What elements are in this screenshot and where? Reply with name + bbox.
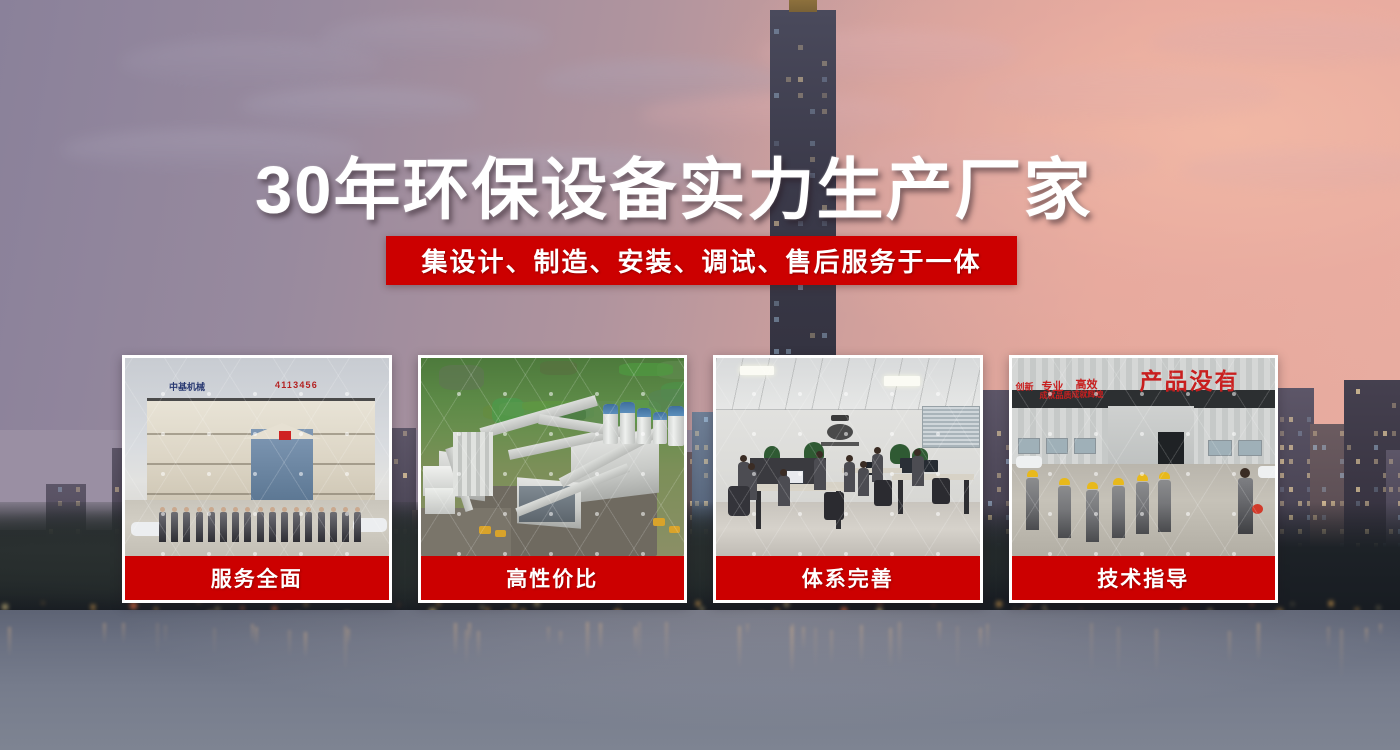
company-headquarters-photo: 中基机械 4113456 — [125, 358, 389, 556]
feature-card-caption-text: 体系完善 — [802, 563, 894, 593]
office-team-photo — [716, 358, 980, 556]
tower-window — [798, 285, 803, 290]
office-person-head — [748, 463, 755, 470]
feature-card[interactable]: 中基机械 4113456 服务全面 — [122, 355, 392, 603]
plant-field — [540, 361, 577, 374]
feature-card[interactable]: 产品没有 创新 专业 成就品质 高效 成就辉煌 技术指导 — [1009, 355, 1279, 603]
tower-window — [798, 93, 803, 98]
tower-window — [774, 29, 779, 34]
water-reflection — [738, 626, 741, 669]
water-reflection — [255, 627, 258, 647]
building-window — [1280, 417, 1284, 422]
office-person-head — [816, 451, 823, 458]
shore-light — [130, 602, 137, 609]
building-window — [1307, 417, 1311, 422]
tower-window — [822, 77, 827, 82]
water-reflection — [477, 631, 480, 658]
building-window — [1356, 459, 1360, 464]
feature-card-caption: 技术指导 — [1012, 556, 1276, 600]
water-reflection — [164, 625, 167, 643]
office-person-head — [860, 461, 867, 468]
staff-person — [159, 512, 166, 542]
staff-person — [318, 512, 325, 542]
staff-person — [208, 512, 215, 542]
building-window — [1356, 487, 1360, 492]
tower-window — [810, 109, 815, 114]
water-reflection — [938, 622, 941, 642]
staff-person — [330, 512, 337, 542]
building-window — [1322, 487, 1326, 492]
feature-card-caption-text: 技术指导 — [1097, 563, 1189, 593]
office-person-head — [740, 455, 747, 462]
water-reflection — [802, 627, 805, 650]
tower-window — [786, 77, 791, 82]
office-per — [814, 458, 826, 490]
red-helmet-icon — [1252, 504, 1263, 514]
hard-hat-icon — [1113, 478, 1124, 485]
office-per — [912, 456, 924, 486]
office-per — [872, 454, 883, 482]
building-window — [1289, 459, 1293, 464]
hero-headline: 30年环保设备实力生产厂家 — [255, 136, 1093, 233]
water-reflection — [956, 626, 959, 671]
staff-person — [281, 512, 288, 542]
staff-person — [293, 512, 300, 542]
shore-light — [1043, 606, 1046, 609]
office-person-head — [914, 449, 921, 456]
worker — [1112, 486, 1125, 538]
feature-card-list: 中基机械 4113456 服务全面 高性价比 — [122, 355, 1278, 603]
building-window — [1280, 487, 1284, 492]
hero-subtitle-text: 集设计、制造、安装、调试、售后服务于一体 — [421, 242, 981, 279]
water-reflection — [746, 624, 749, 635]
river-shine — [0, 610, 1400, 750]
water-reflection — [251, 624, 254, 641]
plant-silo — [603, 404, 618, 444]
staff-person — [257, 512, 264, 542]
building-window — [1374, 487, 1378, 492]
building-window — [1280, 445, 1284, 450]
feature-card-caption: 服务全面 — [125, 556, 389, 600]
water-reflection — [814, 628, 817, 670]
office-desk — [964, 480, 969, 514]
office-person-head — [874, 447, 881, 454]
feature-card-caption: 体系完善 — [716, 556, 980, 600]
building-phone-text: 4113456 — [275, 380, 318, 390]
water-reflection — [547, 627, 550, 644]
worker — [1158, 480, 1171, 532]
staff-person — [183, 512, 190, 542]
worker — [1026, 478, 1039, 530]
shore-light — [1329, 601, 1333, 605]
staff-person-head — [319, 507, 324, 512]
staff-person — [244, 512, 251, 542]
water-reflection — [1340, 629, 1343, 678]
building-window — [1356, 389, 1360, 394]
plant-silo — [653, 412, 667, 444]
water-reflection — [830, 630, 833, 665]
instructor — [1238, 478, 1253, 534]
hard-hat-icon — [1087, 482, 1098, 489]
staff-person — [269, 512, 276, 542]
building-window — [1347, 445, 1351, 450]
hard-hat-icon — [1159, 472, 1170, 479]
water-reflection — [979, 628, 982, 650]
water-reflection — [454, 623, 457, 657]
office-chair — [874, 480, 892, 506]
office-person-head — [780, 469, 787, 476]
tower-window — [774, 301, 779, 306]
water-reflection — [1090, 623, 1093, 672]
water-reflection — [986, 624, 989, 650]
staff-person-head — [209, 507, 214, 512]
building-window — [1389, 459, 1393, 464]
building-window — [1374, 459, 1378, 464]
building-window — [1374, 445, 1378, 450]
plant-field — [619, 363, 673, 376]
water-reflection — [599, 623, 602, 650]
feature-card-caption-text: 服务全面 — [211, 563, 303, 593]
water-reflection — [1117, 627, 1120, 675]
water-reflection — [8, 627, 11, 657]
building-window — [1289, 487, 1293, 492]
plant-mach — [669, 526, 680, 533]
water-reflection — [288, 630, 291, 658]
feature-card-caption-text: 高性价比 — [506, 563, 598, 593]
building-window — [1289, 417, 1293, 422]
water-reflection — [1365, 628, 1368, 644]
water-reflection — [122, 623, 125, 643]
office-desk — [898, 480, 903, 514]
tower-window — [798, 77, 803, 82]
water-reflection — [634, 627, 637, 651]
water-reflection — [304, 632, 307, 658]
water-reflection — [156, 623, 159, 655]
building-window — [1392, 403, 1396, 408]
office-mon — [924, 460, 938, 472]
plant-silo — [637, 408, 651, 444]
staff-person-head — [343, 507, 348, 512]
building-window — [1280, 473, 1284, 478]
staff-person — [305, 512, 312, 542]
water-reflection — [586, 622, 589, 660]
worker — [1058, 486, 1071, 538]
water-reflection — [1257, 623, 1260, 662]
building-window — [115, 487, 119, 492]
water-reflection — [791, 624, 794, 674]
staff-person — [354, 512, 361, 542]
building-window — [1322, 445, 1326, 450]
staff-person — [342, 512, 349, 542]
staff-person — [196, 512, 203, 542]
water-reflection — [559, 631, 562, 647]
water-reflection — [468, 623, 471, 640]
staff-person — [220, 512, 227, 542]
water-reflection — [898, 622, 901, 665]
tower-window — [798, 45, 803, 50]
tower-window — [774, 93, 779, 98]
worker — [1086, 490, 1099, 542]
plant-slab — [453, 432, 493, 496]
water-reflection — [638, 622, 641, 659]
water-reflection — [103, 623, 106, 644]
feature-card[interactable]: 体系完善 — [713, 355, 983, 603]
plant-mach — [653, 518, 665, 526]
staff-person-head — [197, 507, 202, 512]
staff-person-head — [221, 507, 226, 512]
building-window — [1389, 487, 1393, 492]
building-window — [58, 487, 62, 492]
hero-banner: 30年环保设备实力生产厂家 集设计、制造、安装、调试、售后服务于一体 中基机械 … — [0, 0, 1400, 750]
production-plant-aerial-photo — [421, 358, 685, 556]
building-window — [76, 487, 80, 492]
tower-window — [822, 61, 827, 66]
tower-window — [810, 333, 815, 338]
worker — [1136, 482, 1149, 534]
water-reflection — [1228, 631, 1231, 664]
hero-subtitle-banner: 集设计、制造、安装、调试、售后服务于一体 — [386, 236, 1017, 285]
staff-person — [232, 512, 239, 542]
feature-card-caption: 高性价比 — [421, 556, 685, 600]
water-reflection — [860, 625, 863, 664]
tower-window — [822, 109, 827, 114]
office-person-head — [846, 455, 853, 462]
water-reflection — [1379, 624, 1382, 635]
hard-hat-icon — [1059, 478, 1070, 485]
water-reflection — [347, 629, 350, 645]
building-window — [1313, 431, 1317, 436]
water-reflection — [213, 628, 216, 657]
plant-field — [439, 365, 484, 390]
tower-window — [786, 349, 791, 354]
tower-window — [822, 333, 827, 338]
building-window — [1374, 431, 1378, 436]
shore-light — [932, 603, 935, 606]
hard-hat-icon — [1027, 470, 1038, 477]
office-chair — [824, 492, 844, 520]
building-window — [1280, 459, 1284, 464]
staff-person-head — [282, 507, 287, 512]
building-window — [1392, 431, 1396, 436]
staff-person-head — [270, 507, 275, 512]
river — [0, 610, 1400, 750]
water-reflection — [1327, 627, 1330, 650]
feature-card[interactable]: 高性价比 — [418, 355, 688, 603]
shore-light — [1291, 603, 1294, 606]
plant-mach — [495, 530, 506, 537]
tower-window — [822, 93, 827, 98]
water-reflection — [665, 622, 668, 662]
building-window — [1280, 431, 1284, 436]
office-chair — [728, 486, 750, 516]
plant-mach — [479, 526, 491, 534]
office-chair — [932, 478, 950, 504]
staff-person-head — [331, 507, 336, 512]
office-building — [147, 398, 375, 502]
office-per — [844, 462, 855, 492]
building-window — [1383, 431, 1387, 436]
water-reflection — [1155, 629, 1158, 674]
building-window — [1298, 431, 1302, 436]
plant-silo — [668, 406, 684, 446]
staff-person-head — [160, 507, 165, 512]
plant-silo — [620, 402, 635, 444]
water-reflection — [889, 628, 892, 667]
hard-hat-icon — [1137, 474, 1148, 481]
plant-slab — [425, 488, 455, 514]
workshop-training-photo: 产品没有 创新 专业 成就品质 高效 成就辉煌 — [1012, 358, 1276, 556]
building-sign-text: 中基机械 — [169, 380, 205, 393]
office-per — [778, 476, 790, 506]
staff-person-head — [258, 507, 263, 512]
office-per — [858, 468, 869, 496]
building-window — [1289, 445, 1293, 450]
tower-window — [774, 317, 779, 322]
staff-person — [171, 512, 178, 542]
instructor-head — [1240, 468, 1250, 478]
wall-decal — [819, 415, 861, 449]
building-window — [1313, 445, 1317, 450]
tower-window — [774, 349, 779, 354]
